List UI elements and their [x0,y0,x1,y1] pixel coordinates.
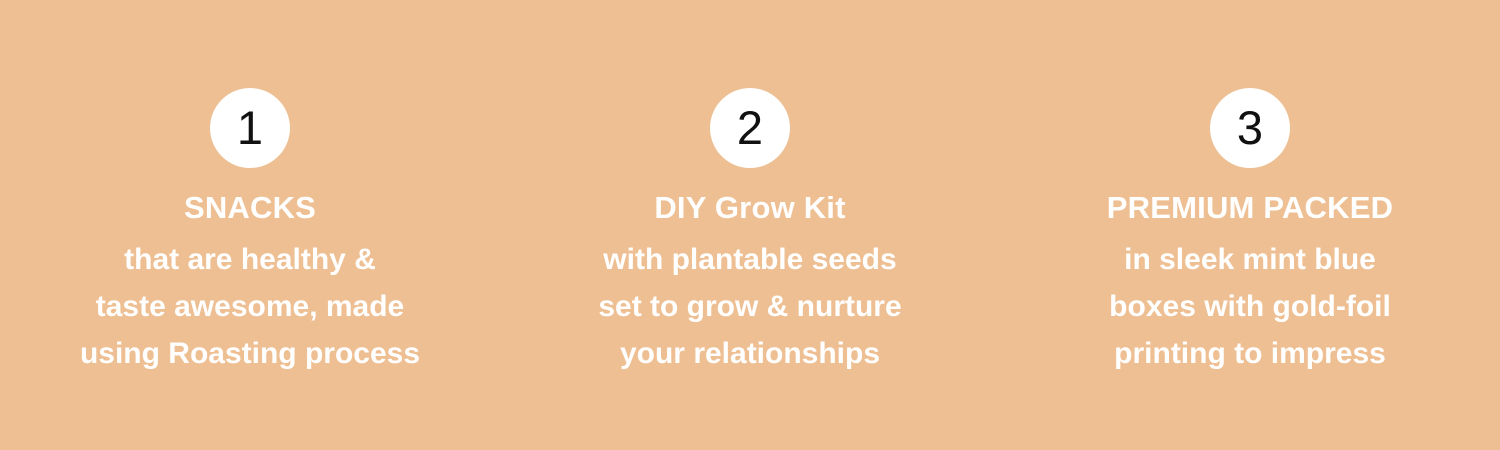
feature-heading-3: PREMIUM PACKED [1107,190,1393,226]
step-badge-2: 2 [710,88,790,168]
step-number-2: 2 [737,104,763,151]
feature-heading-2: DIY Grow Kit [654,190,845,226]
feature-body-line: using Roasting process [80,330,420,377]
feature-body-line: in sleek mint blue [1109,236,1391,283]
feature-column-1: 1 SNACKS that are healthy & taste awesom… [0,0,500,377]
step-badge-3: 3 [1210,88,1290,168]
feature-body-line: your relationships [598,330,901,377]
feature-heading-1: SNACKS [184,190,316,226]
feature-body-2: with plantable seeds set to grow & nurtu… [598,236,901,377]
feature-strip: 1 SNACKS that are healthy & taste awesom… [0,0,1500,450]
feature-body-1: that are healthy & taste awesome, made u… [80,236,420,377]
feature-body-line: printing to impress [1109,330,1391,377]
feature-body-line: that are healthy & [80,236,420,283]
step-number-1: 1 [237,104,263,151]
step-number-3: 3 [1237,104,1263,151]
feature-body-3: in sleek mint blue boxes with gold-foil … [1109,236,1391,377]
feature-body-line: with plantable seeds [598,236,901,283]
step-badge-1: 1 [210,88,290,168]
feature-body-line: taste awesome, made [80,283,420,330]
feature-column-3: 3 PREMIUM PACKED in sleek mint blue boxe… [1000,0,1500,377]
feature-body-line: set to grow & nurture [598,283,901,330]
feature-body-line: boxes with gold-foil [1109,283,1391,330]
feature-column-2: 2 DIY Grow Kit with plantable seeds set … [500,0,1000,377]
